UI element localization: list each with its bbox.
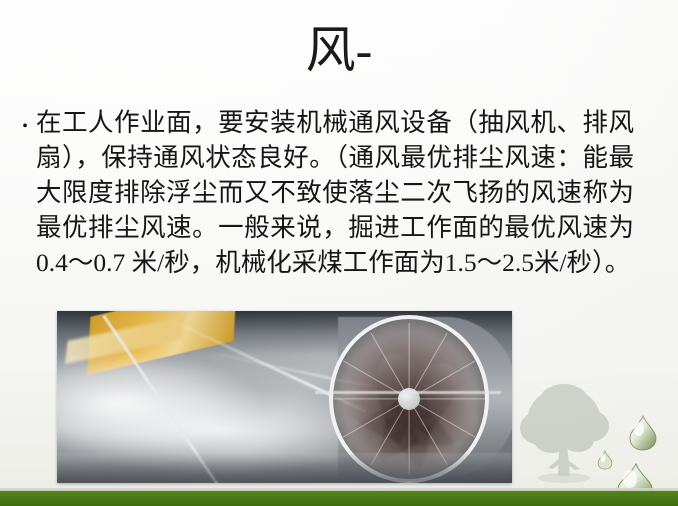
photo-fan-crossbar <box>315 391 501 394</box>
body-paragraph: 在工人作业面，要安装机械通风设备（抽风机、排风扇），保持通风状态良好。（通风最优… <box>36 105 634 280</box>
water-droplet-icon <box>597 450 613 470</box>
slide-title: 风- <box>0 24 678 77</box>
footer-green-band <box>0 491 678 506</box>
tree-silhouette-icon <box>508 372 620 490</box>
photo-scene <box>57 311 512 483</box>
presentation-slide: 风- • 在工人作业面，要安装机械通风设备（抽风机、排风扇），保持通风状态良好。… <box>0 0 678 506</box>
bullet-marker-icon: • <box>14 105 36 135</box>
water-droplet-icon <box>628 415 658 451</box>
body-bullet-list: • 在工人作业面，要安装机械通风设备（抽风机、排风扇），保持通风状态良好。（通风… <box>14 105 634 280</box>
photo-floor-shadow <box>57 453 512 483</box>
ventilation-fan-photo <box>57 311 512 483</box>
